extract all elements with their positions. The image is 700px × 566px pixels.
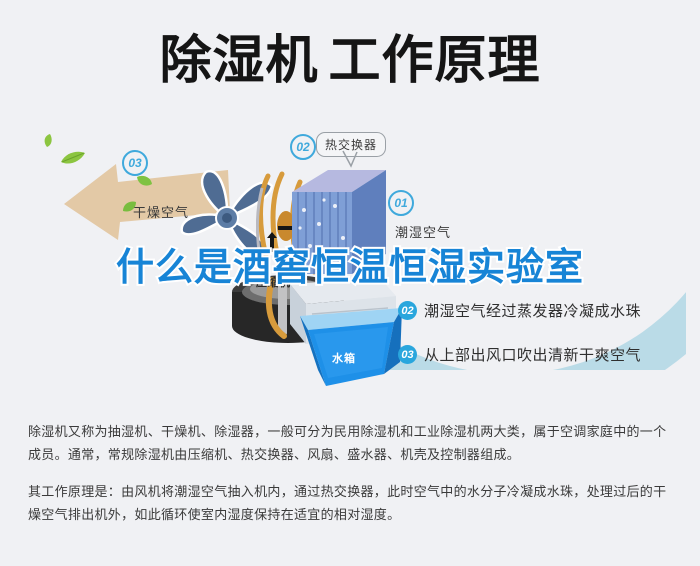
page-title-part1: 除湿机 [159, 32, 318, 90]
overlay-headline: 什么是酒窖恒温恒湿实验室 [0, 245, 700, 291]
callout-tail-icon [342, 150, 360, 168]
step-text: 潮湿空气经过蒸发器冷凝成水珠 [424, 300, 641, 321]
body-text: 除湿机又称为抽湿机、干燥机、除湿器，一般可分为民用除湿机和工业除湿机两大类，属于… [28, 420, 676, 526]
humid-air-label: 潮湿空气 [395, 222, 451, 241]
step-list: 02 潮湿空气经过蒸发器冷凝成水珠 03 从上部出风口吹出清新干爽空气 [398, 300, 698, 388]
overlay-headline-text: 什么是酒窖恒温恒湿实验室 [116, 245, 584, 291]
list-item: 02 潮湿空气经过蒸发器冷凝成水珠 [398, 300, 698, 321]
diagram-badge-02: 02 [290, 134, 316, 160]
step-badge: 03 [398, 345, 417, 364]
leaf-icon [42, 134, 54, 148]
body-paragraph-2: 其工作原理是：由风机将潮湿空气抽入机内，通过热交换器，此时空气中的水分子冷凝成水… [28, 480, 676, 526]
water-tank-label: 水箱 [332, 350, 356, 366]
body-paragraph-1: 除湿机又称为抽湿机、干燥机、除湿器，一般可分为民用除湿机和工业除湿机两大类，属于… [28, 420, 676, 466]
leaf-icon [136, 174, 153, 189]
dry-air-label: 干燥空气 [133, 202, 189, 221]
step-text: 从上部出风口吹出清新干爽空气 [424, 344, 641, 365]
water-tank [296, 308, 408, 390]
diagram-badge-01: 01 [388, 190, 414, 216]
page-title: 除湿机工作原理 [0, 30, 700, 92]
leaf-icon [60, 150, 86, 166]
list-item: 03 从上部出风口吹出清新干爽空气 [398, 344, 698, 365]
infographic-page: 除湿机工作原理 [0, 0, 700, 566]
page-title-part2: 工作原理 [329, 32, 541, 90]
step-badge: 02 [398, 301, 417, 320]
diagram-badge-03: 03 [122, 150, 148, 176]
